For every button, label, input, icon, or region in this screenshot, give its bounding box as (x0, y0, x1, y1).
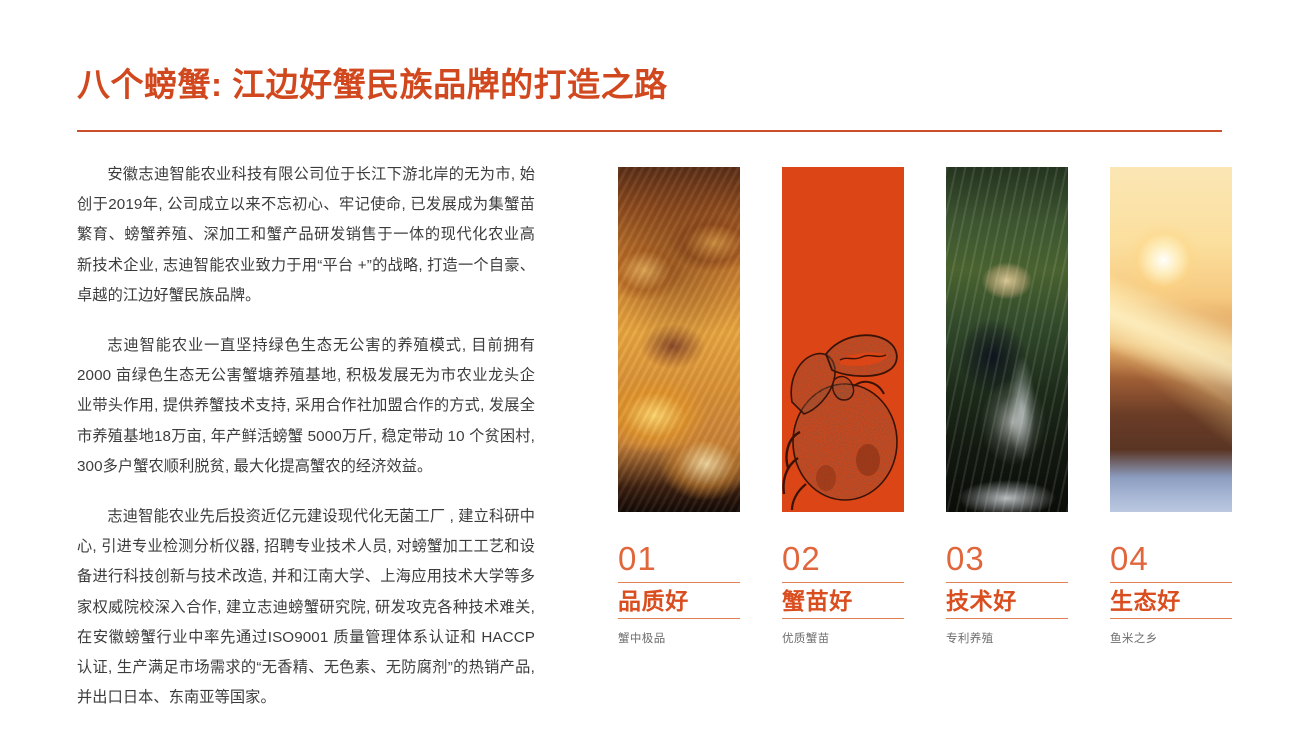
title-divider (77, 130, 1222, 132)
crab-illustration-photo (782, 167, 904, 512)
card-subtitle: 优质蟹苗 (782, 630, 904, 646)
card-title: 品质好 (618, 582, 740, 619)
crab-illustration-icon (782, 282, 904, 512)
feature-card-04[interactable]: 04 生态好 鱼米之乡 (1110, 167, 1232, 646)
card-subtitle: 蟹中极品 (618, 630, 740, 646)
paragraph-2: 志迪智能农业一直坚持绿色生态无公害的养殖模式, 目前拥有 2000 亩绿色生态无… (77, 331, 535, 482)
farmer-water-photo (946, 167, 1068, 512)
card-subtitle: 专利养殖 (946, 630, 1068, 646)
feature-card-grid: 01 品质好 蟹中极品 (618, 167, 1226, 646)
page-root: 八个螃蟹: 江边好蟹民族品牌的打造之路 安徽志迪智能农业科技有限公司位于长江下游… (0, 0, 1300, 731)
feature-card-01[interactable]: 01 品质好 蟹中极品 (618, 167, 740, 646)
paragraph-3: 志迪智能农业先后投资近亿元建设现代化无菌工厂 , 建立科研中心, 引进专业检测分… (77, 502, 535, 713)
card-title: 蟹苗好 (782, 582, 904, 619)
card-number: 01 (618, 542, 740, 575)
article-body: 安徽志迪智能农业科技有限公司位于长江下游北岸的无为市, 始创于2019年, 公司… (77, 160, 535, 733)
card-title: 生态好 (1110, 582, 1232, 619)
crab-roe-photo (618, 167, 740, 512)
page-title: 八个螃蟹: 江边好蟹民族品牌的打造之路 (77, 58, 668, 106)
card-title: 技术好 (946, 582, 1068, 619)
feature-card-02[interactable]: 02 蟹苗好 优质蟹苗 (782, 167, 904, 646)
sunrise-river-photo (1110, 167, 1232, 512)
card-number: 04 (1110, 542, 1232, 575)
card-number: 03 (946, 542, 1068, 575)
card-subtitle: 鱼米之乡 (1110, 630, 1232, 646)
paragraph-1: 安徽志迪智能农业科技有限公司位于长江下游北岸的无为市, 始创于2019年, 公司… (77, 160, 535, 311)
card-number: 02 (782, 542, 904, 575)
feature-card-03[interactable]: 03 技术好 专利养殖 (946, 167, 1068, 646)
